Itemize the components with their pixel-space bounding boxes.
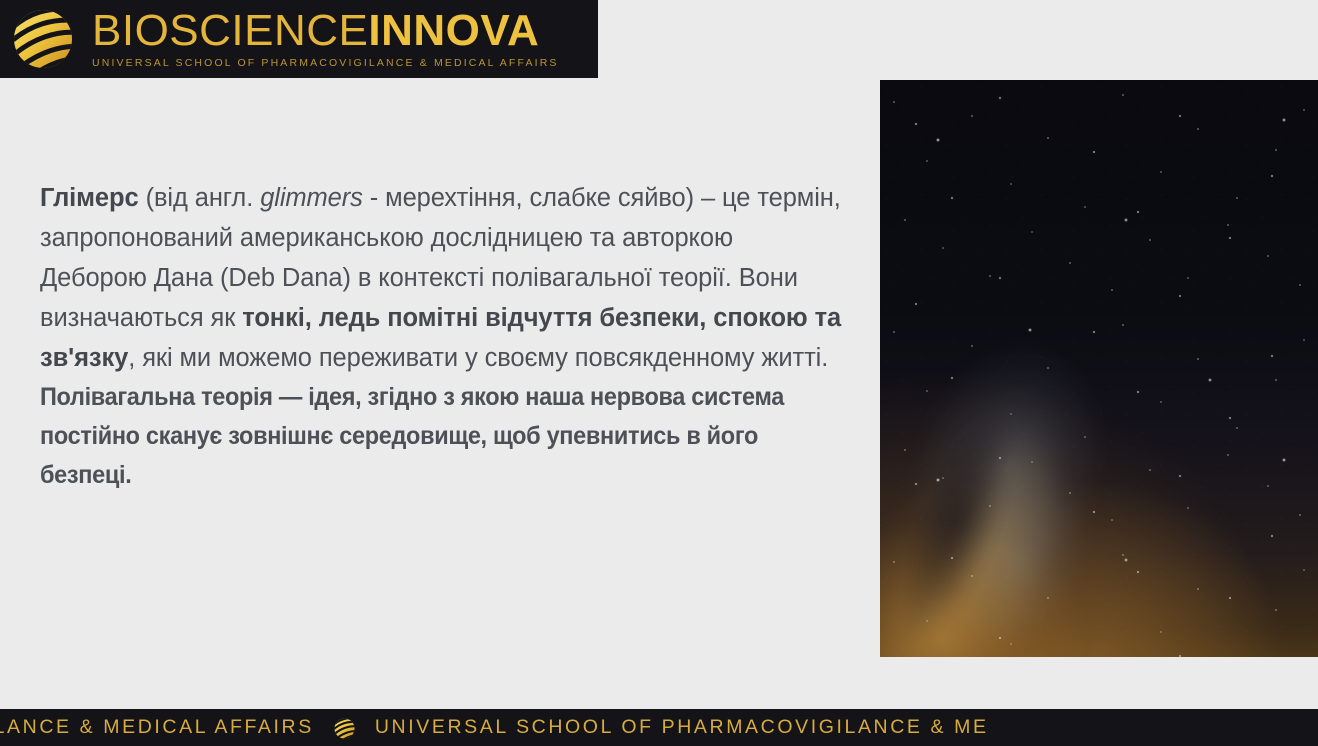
brand-part1: BIOSCIENCE: [92, 6, 368, 55]
globe-swirl-icon: [331, 716, 358, 741]
marquee-track: ARMACOVIGILANCE & MEDICAL AFFAIRS UNIVER…: [0, 715, 989, 740]
brand-tagline: UNIVERSAL SCHOOL OF PHARMACOVIGILANCE & …: [92, 57, 559, 69]
header-logo-bar: BIOSCIENCEINNOVA UNIVERSAL SCHOOL OF PHA…: [0, 0, 598, 78]
marquee-segment-2: UNIVERSAL SCHOOL OF PHARMACOVIGILANCE & …: [375, 716, 989, 739]
globe-swirl-icon: [4, 4, 82, 74]
para1-segment3: , які ми можемо переживати у своєму повс…: [128, 344, 828, 372]
brand-title: BIOSCIENCEINNOVA: [92, 9, 559, 52]
paragraph-definition: Глімерс (від англ. glimmers - мерехтіння…: [40, 178, 845, 378]
marquee-segment-1: ARMACOVIGILANCE & MEDICAL AFFAIRS: [0, 716, 314, 739]
english-term: glimmers: [260, 184, 363, 212]
paragraph-polyvagal-theory: Полівагальна теорія — ідея, згідно з яко…: [40, 378, 797, 495]
photo-grain: [880, 80, 1318, 657]
night-sky-milky-way-photo: [880, 80, 1318, 657]
para1-segment1: (від англ.: [139, 184, 261, 212]
brand-lockup: BIOSCIENCEINNOVA UNIVERSAL SCHOOL OF PHA…: [92, 9, 559, 68]
slide-text-content: Глімерс (від англ. glimmers - мерехтіння…: [40, 178, 845, 495]
brand-part2: INNOVA: [368, 6, 539, 55]
bottom-marquee-banner: ARMACOVIGILANCE & MEDICAL AFFAIRS UNIVER…: [0, 709, 1318, 746]
term-glimmers: Глімерс: [40, 184, 139, 212]
